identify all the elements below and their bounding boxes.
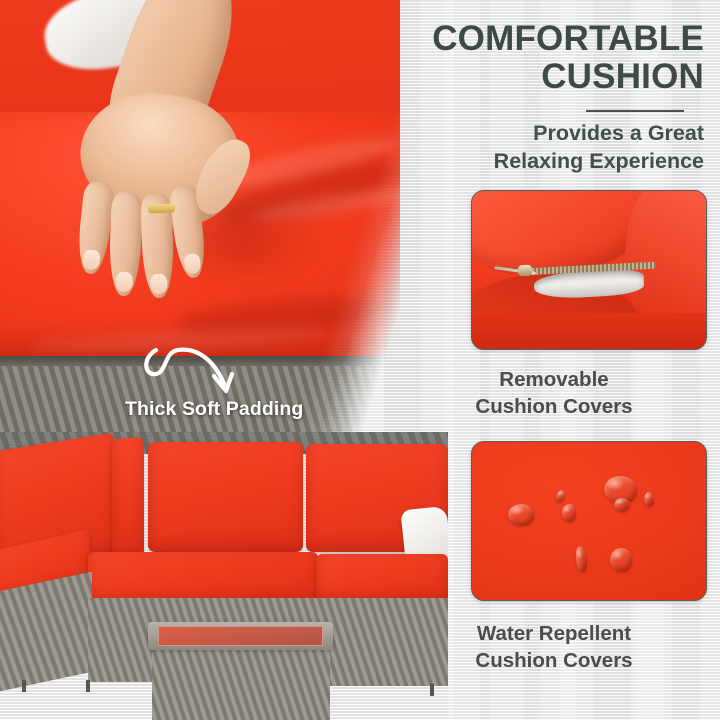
caption-line-2: Cushion Covers: [404, 647, 704, 674]
headline-line-1: COMFORTABLE: [404, 20, 704, 58]
caption-line-2: Cushion Covers: [404, 393, 704, 420]
fingernail: [149, 274, 168, 295]
water-droplet: [644, 492, 654, 507]
finger-ring: [148, 204, 175, 214]
water-droplet: [508, 504, 534, 526]
coffee-table-top: [148, 622, 333, 650]
back-cushion: [112, 437, 144, 559]
sofa-leg: [430, 684, 434, 696]
water-droplet: [614, 498, 630, 512]
subtitle-line-1: Provides a Great: [404, 120, 704, 148]
callout-label-thick-soft-padding: Thick Soft Padding: [125, 398, 303, 421]
sofa-leg: [86, 680, 90, 692]
subtitle-line-2: Relaxing Experience: [404, 148, 704, 176]
page-title: COMFORTABLE CUSHION: [404, 20, 704, 96]
hand-graphic: [56, 0, 316, 326]
seat-cushion: [316, 554, 448, 604]
finger: [75, 181, 114, 276]
sofa-set-photo: [0, 432, 448, 720]
water-droplet: [610, 548, 632, 572]
sofa-leg: [22, 680, 26, 692]
headline-line-2: CUSHION: [404, 58, 704, 96]
cushion-bottom-edge: [472, 313, 707, 349]
title-divider: [586, 110, 684, 112]
back-cushion: [148, 442, 303, 552]
feature-caption-removable-covers: Removable Cushion Covers: [404, 366, 704, 420]
page-subtitle: Provides a Great Relaxing Experience: [404, 120, 704, 176]
fingernail: [82, 249, 101, 271]
feature-image-water-repellent: [471, 441, 707, 601]
zipper-slider-icon: [518, 265, 533, 277]
table-glass-panel: [158, 626, 323, 646]
fingernail: [115, 272, 134, 293]
fingernail: [183, 253, 202, 275]
red-fabric-surface: [472, 442, 706, 600]
feature-caption-water-repellent: Water Repellent Cushion Covers: [404, 620, 704, 674]
caption-line-1: Water Repellent: [404, 620, 704, 647]
finger: [108, 191, 143, 296]
coffee-table-body: [152, 646, 330, 720]
sofa-rattan-frame: [0, 572, 92, 693]
caption-line-1: Removable: [404, 366, 704, 393]
water-droplet: [562, 504, 576, 522]
seat-cushion: [88, 552, 318, 604]
feature-image-removable-covers: [471, 190, 707, 350]
